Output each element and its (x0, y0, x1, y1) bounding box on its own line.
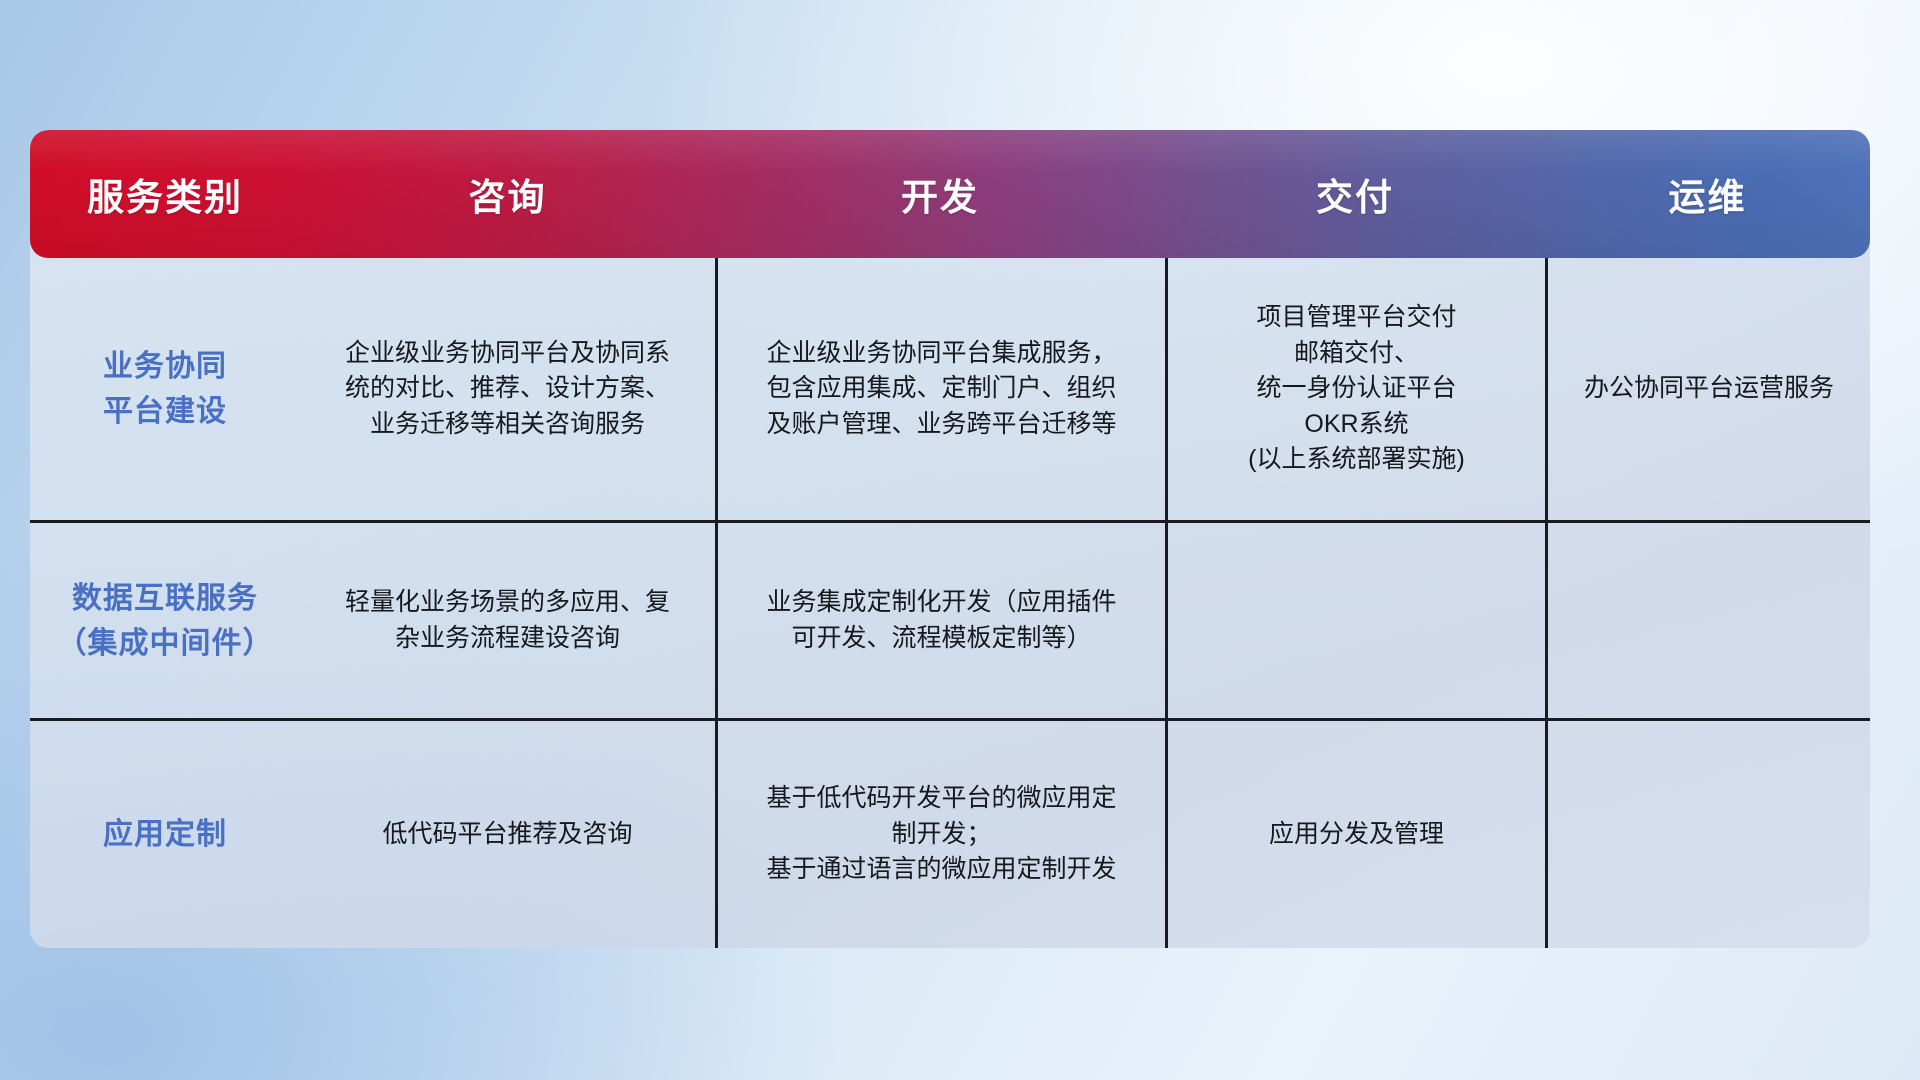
cell-consulting: 企业级业务协同平台及协同系 统的对比、推荐、设计方案、 业务迁移等相关咨询服务 (300, 258, 715, 520)
cell-consulting: 低代码平台推荐及咨询 (300, 721, 715, 948)
cell-operations (1545, 523, 1870, 718)
table-body: 业务协同 平台建设 企业级业务协同平台及协同系 统的对比、推荐、设计方案、 业务… (30, 258, 1870, 948)
cell-development: 企业级业务协同平台集成服务， 包含应用集成、定制门户、组织 及账户管理、业务跨平… (715, 258, 1165, 520)
cell-category: 应用定制 (30, 721, 300, 948)
cell-operations (1545, 721, 1870, 948)
cell-delivery: 项目管理平台交付 邮箱交付、 统一身份认证平台 OKR系统 (以上系统部署实施) (1165, 258, 1545, 520)
table-row: 业务协同 平台建设 企业级业务协同平台及协同系 统的对比、推荐、设计方案、 业务… (30, 258, 1870, 520)
service-matrix-table: 服务类别 咨询 开发 交付 运维 业务协同 平台建设 企业级业务协同平台及协同系… (30, 130, 1870, 948)
cell-operations: 办公协同平台运营服务 (1545, 258, 1870, 520)
cell-category: 数据互联服务 （集成中间件） (30, 523, 300, 718)
page-background: 服务类别 咨询 开发 交付 运维 业务协同 平台建设 企业级业务协同平台及协同系… (0, 0, 1920, 1080)
cell-category: 业务协同 平台建设 (30, 258, 300, 520)
cell-development: 业务集成定制化开发（应用插件 可开发、流程模板定制等） (715, 523, 1165, 718)
column-header-category: 服务类别 (30, 167, 300, 221)
table-row: 数据互联服务 （集成中间件） 轻量化业务场景的多应用、复 杂业务流程建设咨询 业… (30, 520, 1870, 718)
cell-delivery: 应用分发及管理 (1165, 721, 1545, 948)
cell-development: 基于低代码开发平台的微应用定 制开发； 基于通过语言的微应用定制开发 (715, 721, 1165, 948)
cell-delivery (1165, 523, 1545, 718)
column-header-consulting: 咨询 (300, 167, 715, 221)
column-header-delivery: 交付 (1165, 167, 1545, 221)
table-row: 应用定制 低代码平台推荐及咨询 基于低代码开发平台的微应用定 制开发； 基于通过… (30, 718, 1870, 948)
table-header-row: 服务类别 咨询 开发 交付 运维 (30, 130, 1870, 258)
column-header-development: 开发 (715, 167, 1165, 221)
column-header-operations: 运维 (1545, 167, 1870, 221)
cell-consulting: 轻量化业务场景的多应用、复 杂业务流程建设咨询 (300, 523, 715, 718)
